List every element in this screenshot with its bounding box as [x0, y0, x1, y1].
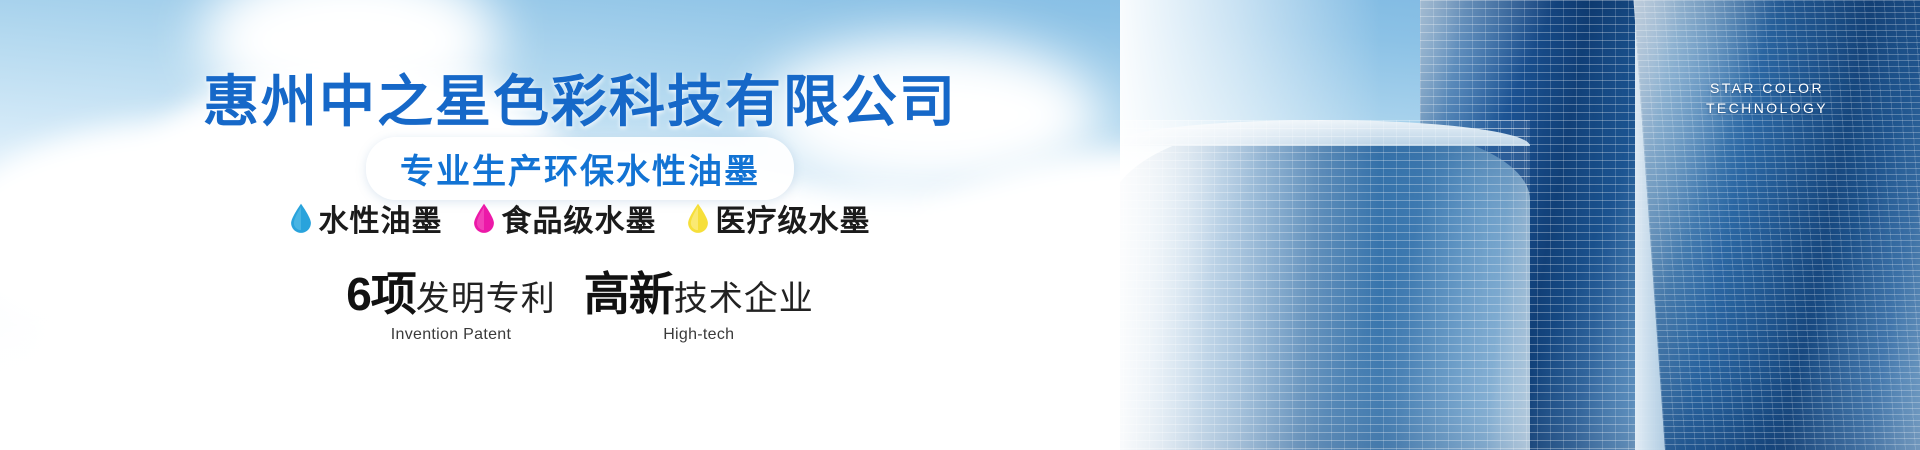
feature-label: 水性油墨: [319, 196, 443, 240]
feature-label: 食品级水墨: [502, 196, 657, 240]
badge-main: 6项 发明专利: [346, 258, 556, 324]
badge-rest-text: 发明专利: [416, 271, 556, 320]
badge-item: 高新 技术企业 High-tech: [584, 258, 814, 344]
badge-strong-text: 6项: [346, 258, 416, 324]
badge-strong-text: 高新: [584, 258, 674, 324]
feature-list: 水性油墨 食品级水墨 医疗级水墨: [0, 196, 1160, 240]
building-right: [1634, 0, 1920, 450]
skyscraper-photo: STAR COLOR TECHNOLOGY: [1120, 0, 1920, 450]
building-curved: [1120, 120, 1530, 450]
feature-item: 医疗级水墨: [687, 196, 871, 240]
building-brand-line2: TECHNOLOGY: [1672, 98, 1862, 118]
badge-list: 6项 发明专利 Invention Patent 高新 技术企业 High-te…: [0, 258, 1160, 344]
water-drop-icon: [473, 203, 495, 233]
subtitle-pill: 专业生产环保水性油墨: [366, 137, 794, 200]
badge-item: 6项 发明专利 Invention Patent: [346, 258, 556, 344]
glass-sheen: [1120, 120, 1530, 450]
water-drop-icon: [290, 203, 312, 233]
glass-sheen: [1634, 0, 1920, 450]
feature-label: 医疗级水墨: [716, 196, 871, 240]
badge-sub-text: Invention Patent: [346, 326, 556, 344]
badge-rest-text: 技术企业: [674, 271, 814, 320]
feature-item: 水性油墨: [290, 196, 443, 240]
badge-main: 高新 技术企业: [584, 258, 814, 324]
water-drop-icon: [687, 203, 709, 233]
building-brand-line1: STAR COLOR: [1672, 78, 1862, 98]
hero-banner: Star Color STAR COLOR TECHNOLOGY 惠州中之星色彩…: [0, 0, 1920, 450]
company-title: 惠州中之星色彩科技有限公司: [0, 57, 1160, 138]
subtitle-text: 专业生产环保水性油墨: [400, 144, 760, 193]
feature-item: 食品级水墨: [473, 196, 657, 240]
banner-content: 惠州中之星色彩科技有限公司 专业生产环保水性油墨 水性油墨 食品级水墨: [0, 0, 1160, 450]
badge-sub-text: High-tech: [584, 326, 814, 344]
building-brand-label: STAR COLOR TECHNOLOGY: [1672, 78, 1862, 118]
